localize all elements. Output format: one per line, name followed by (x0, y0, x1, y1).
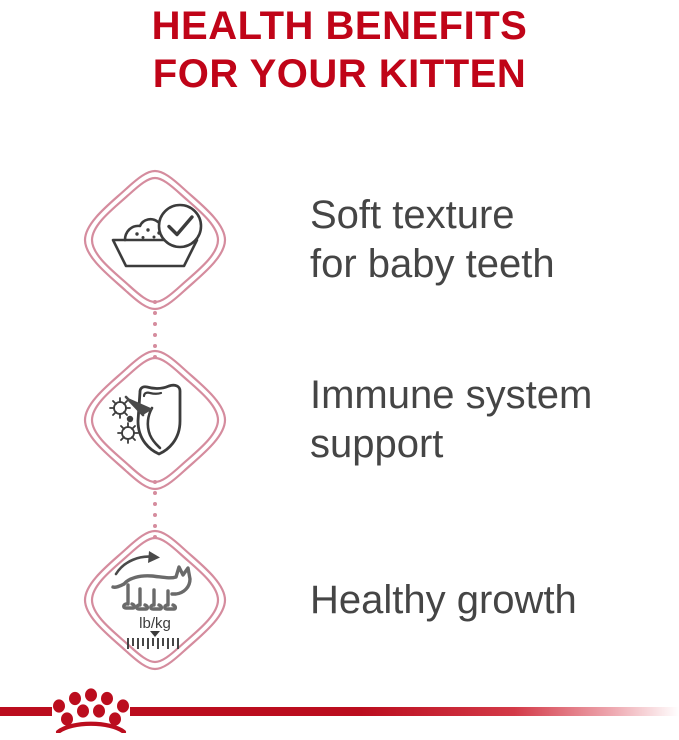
connector-dots-1 (0, 300, 310, 359)
footer-bar-right (130, 707, 679, 716)
connector-dots-2 (0, 480, 310, 539)
benefit-badge-cell: lb/kg (0, 525, 310, 675)
food-bowl-check-icon (80, 165, 230, 315)
benefits-list: Soft texture for baby teeth (0, 150, 679, 690)
benefit-badge-cell (0, 165, 310, 315)
dotted-line (153, 480, 157, 539)
royal-canin-crown-logo (50, 685, 132, 733)
dotted-line (153, 300, 157, 359)
benefit-label-cell: Healthy growth (310, 576, 679, 625)
shield-germs-icon (80, 345, 230, 495)
title-line-2: FOR YOUR KITTEN (0, 50, 679, 98)
benefit-label: Healthy growth (310, 576, 659, 625)
title-line-1: HEALTH BENEFITS (0, 2, 679, 50)
health-benefits-panel: HEALTH BENEFITS FOR YOUR KITTEN (0, 0, 679, 740)
benefit-label: Immune system support (310, 371, 659, 469)
benefit-badge-cell (0, 345, 310, 495)
benefit-label-cell: Soft texture for baby teeth (310, 191, 679, 289)
benefit-label-cell: Immune system support (310, 371, 679, 469)
footer (0, 680, 679, 740)
scale-unit-label: lb/kg (139, 615, 171, 632)
page-title: HEALTH BENEFITS FOR YOUR KITTEN (0, 2, 679, 98)
kitten-growth-scale-icon: lb/kg (80, 525, 230, 675)
benefit-label: Soft texture for baby teeth (310, 191, 659, 289)
footer-bar-left (0, 707, 52, 716)
